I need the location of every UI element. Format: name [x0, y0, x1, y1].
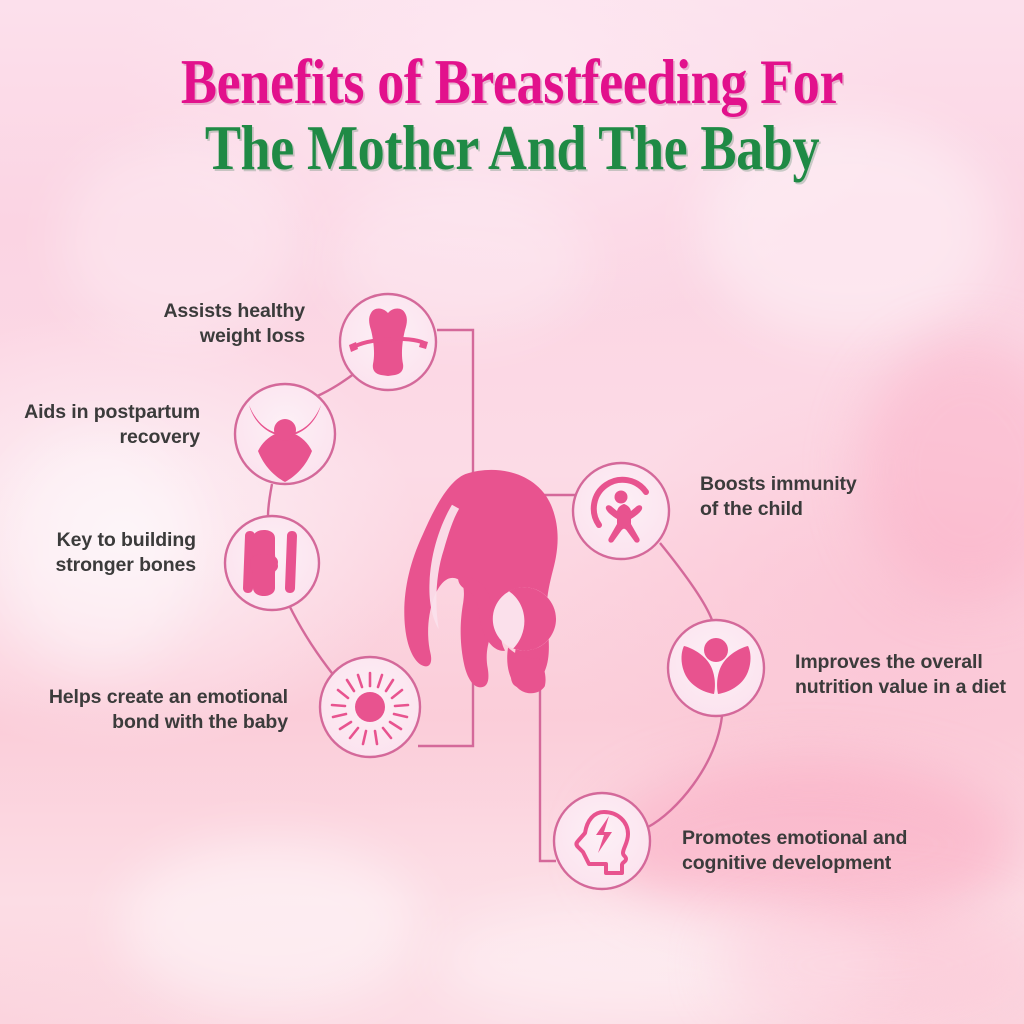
benefit-node-nutrition[interactable]: [668, 620, 764, 716]
benefit-node-postpartum-recovery[interactable]: [235, 384, 335, 484]
benefit-node-immunity[interactable]: [573, 463, 669, 559]
benefit-node-cognitive-development[interactable]: [554, 793, 650, 889]
label-aids-in-postpartum-recovery: Aids in postpartum recovery: [0, 400, 200, 451]
label-boosts-immunity-of-the-child: Boosts immunity of the child: [700, 472, 1000, 523]
benefit-node-stronger-bones[interactable]: [225, 516, 319, 610]
connector-immunity-to-nutrition: [660, 543, 712, 620]
label-key-to-building-stronger-bones: Key to building stronger bones: [0, 528, 196, 579]
label-promotes-emotional-cognitive-development: Promotes emotional and cognitive develop…: [682, 826, 982, 877]
mother-and-baby-illustration: [404, 470, 557, 693]
label-assists-healthy-weight-loss: Assists healthy weight loss: [20, 299, 305, 350]
connector-nutrition-to-cognitive: [648, 716, 722, 827]
knee-joint-bone-icon: [243, 530, 297, 596]
label-helps-create-emotional-bond: Helps create an emotional bond with the …: [0, 685, 288, 736]
benefit-node-emotional-bond[interactable]: [320, 657, 420, 757]
benefit-node-weight-loss[interactable]: [340, 294, 436, 390]
connector-postpartum-to-bones: [268, 484, 272, 516]
infographic-canvas: Benefits of Breastfeeding For The Mother…: [0, 0, 1024, 1024]
label-improves-overall-nutrition-value: Improves the overall nutrition value in …: [795, 650, 1024, 701]
